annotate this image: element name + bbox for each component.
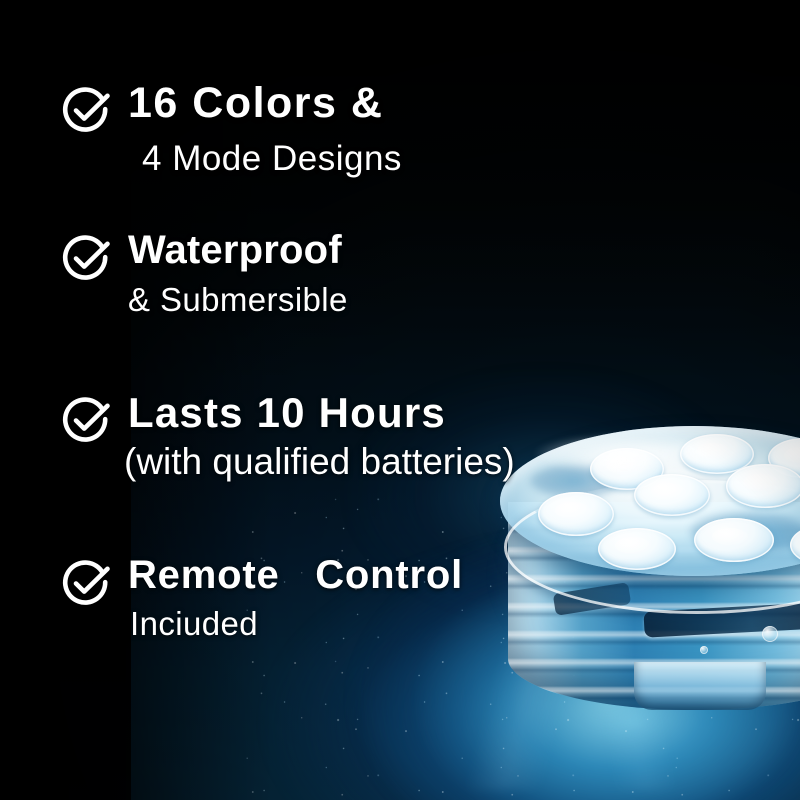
feature-item-remote-control: Remote Control Inciuded (60, 555, 463, 640)
feature-item-battery-life: Lasts 10 Hours (with qualified batteries… (60, 392, 515, 480)
feature-title: 16 Colors & (128, 82, 402, 125)
feature-title: Remote Control (128, 555, 463, 595)
feature-text: Waterproof & Submersible (128, 230, 348, 316)
feature-list: 16 Colors & 4 Mode Designs Waterproof & … (0, 0, 800, 800)
feature-subtitle: (with qualified batteries) (124, 443, 515, 480)
feature-item-colors: 16 Colors & 4 Mode Designs (60, 82, 402, 176)
feature-text: 16 Colors & 4 Mode Designs (128, 82, 402, 176)
feature-item-waterproof: Waterproof & Submersible (60, 230, 348, 316)
feature-subtitle: Inciuded (130, 607, 463, 640)
check-circle-icon (60, 84, 112, 136)
check-circle-icon (60, 557, 112, 609)
feature-text: Lasts 10 Hours (with qualified batteries… (128, 392, 515, 480)
feature-subtitle: 4 Mode Designs (142, 141, 402, 176)
feature-title: Lasts 10 Hours (128, 392, 515, 434)
feature-subtitle: & Submersible (128, 283, 348, 316)
feature-title: Waterproof (128, 230, 348, 270)
check-circle-icon (60, 394, 112, 446)
feature-text: Remote Control Inciuded (128, 555, 463, 640)
check-circle-icon (60, 232, 112, 284)
product-feature-poster: 16 Colors & 4 Mode Designs Waterproof & … (0, 0, 800, 800)
